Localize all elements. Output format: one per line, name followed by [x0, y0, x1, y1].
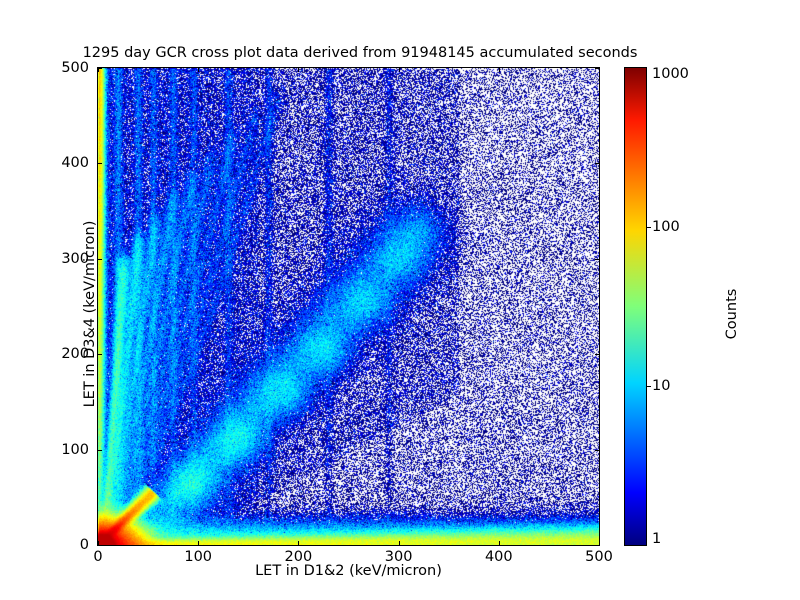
y-tick-mark [98, 450, 102, 451]
colorbar [624, 67, 647, 546]
x-tick-mark [399, 541, 400, 545]
y-tick-mark-right [595, 354, 599, 355]
y-tick-mark [98, 68, 102, 69]
x-tick-mark-top [298, 68, 299, 72]
y-tick-mark [98, 259, 102, 260]
x-tick-mark [599, 541, 600, 545]
colorbar-gradient [625, 68, 646, 545]
figure-canvas: 1295 day GCR cross plot data derived fro… [0, 0, 800, 600]
y-tick-mark [98, 163, 102, 164]
y-axis-label: LET in D3&4 (keV/micron) [82, 74, 98, 554]
colorbar-tick-label: 1000 [652, 66, 689, 82]
colorbar-tick-label: 10 [652, 378, 670, 394]
y-tick-mark-right [595, 259, 599, 260]
y-tick-mark [98, 545, 102, 546]
y-tick-mark-right [595, 163, 599, 164]
title-line-1: 1295 day GCR cross plot data derived fro… [0, 44, 720, 63]
x-tick-mark [499, 541, 500, 545]
x-tick-mark-top [599, 68, 600, 72]
colorbar-tick-mark [646, 227, 651, 228]
colorbar-tick-mark [646, 386, 651, 387]
x-axis-label: LET in D1&2 (keV/micron) [97, 563, 600, 579]
colorbar-tick-label: 1 [652, 531, 661, 547]
x-tick-mark-top [499, 68, 500, 72]
density-scatter-plot [98, 68, 599, 545]
y-tick-mark-right [595, 450, 599, 451]
y-tick-mark [98, 354, 102, 355]
plot-area [97, 67, 600, 546]
colorbar-label: Counts [724, 174, 740, 454]
colorbar-tick-label: 100 [652, 219, 680, 235]
x-tick-mark-top [198, 68, 199, 72]
x-tick-mark [198, 541, 199, 545]
x-tick-mark [298, 541, 299, 545]
y-tick-mark-right [595, 545, 599, 546]
x-tick-mark-top [399, 68, 400, 72]
y-tick-mark-right [595, 68, 599, 69]
